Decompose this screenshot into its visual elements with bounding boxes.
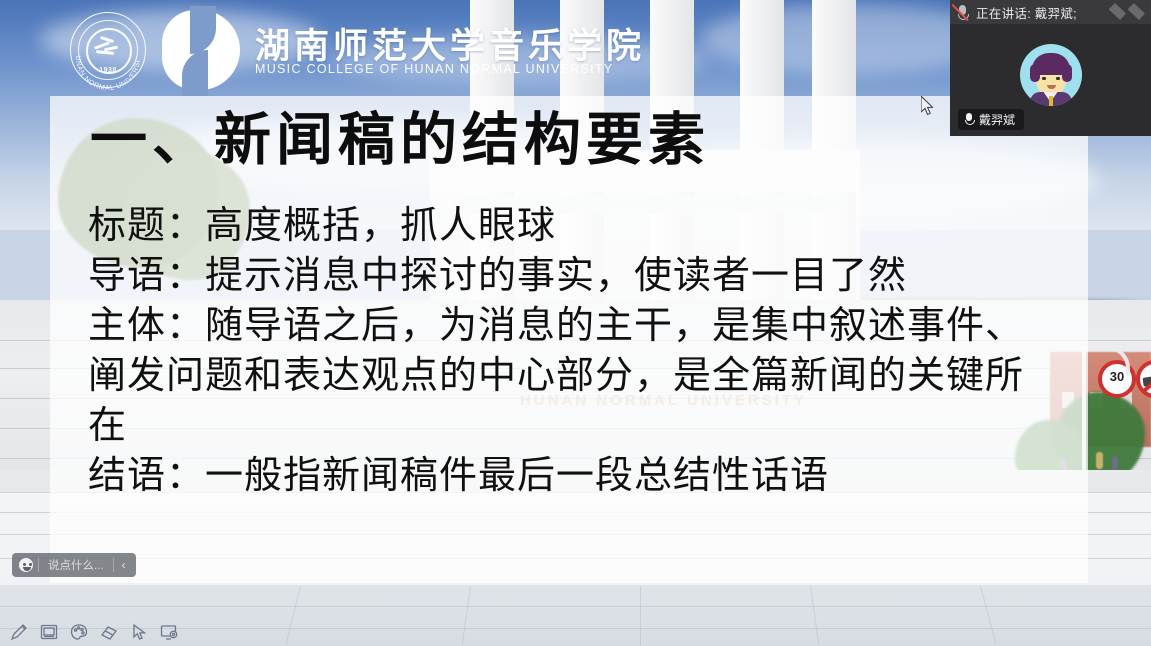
slide-title: 一、新闻稿的结构要素: [90, 112, 710, 169]
eraser-icon[interactable]: [96, 620, 122, 644]
slide-line: 标题：高度概括，抓人眼球: [88, 200, 1060, 250]
avatar: [1020, 44, 1082, 106]
screen-settings-icon[interactable]: [156, 620, 182, 644]
microphone-muted-icon[interactable]: [950, 0, 976, 24]
slide-line: 导语：提示消息中探讨的事实，使读者一目了然: [88, 250, 1060, 300]
brand-title-en: MUSIC COLLEGE OF HUNAN NORMAL UNIVERSITY: [255, 62, 614, 76]
university-seal-logo: 1938 HUNAN NORMAL UNIVERSITY: [64, 10, 152, 90]
paving-line: [0, 606, 1151, 607]
paving-line: [640, 586, 641, 646]
slide-line: 主体：随导语之后，为消息的主干，是集中叙述事件、阐发问题和表达观点的中心部分，是…: [88, 300, 1060, 450]
speaker-name: 戴羿斌: [979, 111, 1015, 128]
chat-input-bar[interactable]: 说点什么... ‹: [12, 553, 136, 577]
mouse-cursor: [921, 96, 935, 116]
music-college-h-logo: [162, 8, 244, 92]
smiley-icon[interactable]: [14, 553, 38, 577]
pedestrian: [1096, 452, 1103, 469]
slide-line: 结语：一般指新闻稿件最后一段总结性话语: [88, 450, 1060, 500]
seal-arc-text: HUNAN NORMAL UNIVERSITY: [64, 10, 152, 90]
double-chevron-icon: [1128, 3, 1145, 20]
speaking-status-label: 正在讲话: 戴羿斌;: [976, 3, 1077, 22]
slide-content-panel: 一、新闻稿的结构要素 标题：高度概括，抓人眼球 导语：提示消息中探讨的事实，使读…: [50, 96, 1088, 583]
cursor-icon[interactable]: [126, 620, 152, 644]
annotation-toolbar[interactable]: [6, 620, 182, 644]
palette-icon[interactable]: [66, 620, 92, 644]
collapse-panel-button[interactable]: [1109, 3, 1145, 20]
chat-collapse-button[interactable]: ‹: [114, 558, 134, 572]
speaker-video-header: 正在讲话: 戴羿斌;: [950, 0, 1151, 24]
svg-text:HUNAN NORMAL UNIVERSITY: HUNAN NORMAL UNIVERSITY: [64, 10, 142, 90]
whiteboard-icon[interactable]: [36, 620, 62, 644]
speaker-video-body[interactable]: 戴羿斌: [950, 24, 1151, 136]
chat-input-placeholder[interactable]: 说点什么...: [39, 557, 113, 573]
slide-body: 标题：高度概括，抓人眼球 导语：提示消息中探讨的事实，使读者一目了然 主体：随导…: [88, 200, 1060, 500]
microphone-icon: [965, 113, 974, 126]
speaker-video-panel[interactable]: 正在讲话: 戴羿斌; 戴羿斌: [950, 0, 1151, 136]
screen-share-view: HUNAN NORMAL UNIVERSITY 30: [0, 0, 1151, 646]
speaker-name-badge: 戴羿斌: [958, 109, 1024, 130]
pedestrian: [1112, 456, 1118, 471]
pencil-icon[interactable]: [6, 620, 32, 644]
double-chevron-icon: [1109, 3, 1126, 20]
